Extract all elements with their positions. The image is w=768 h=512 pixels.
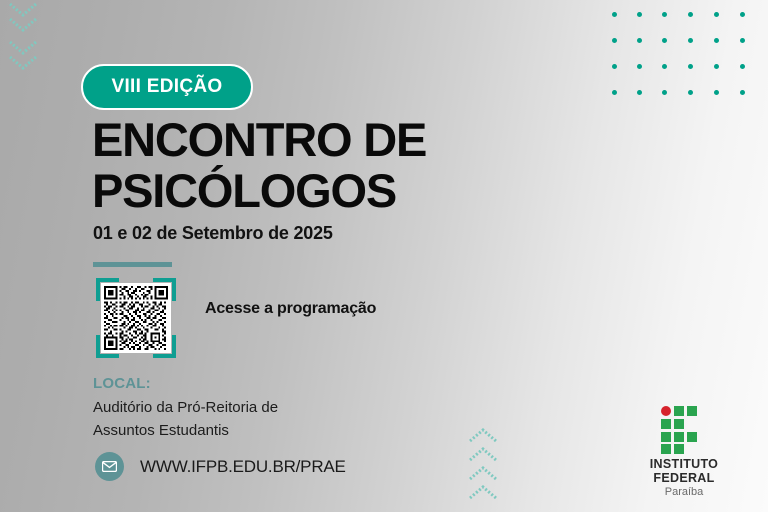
dot [714, 90, 719, 95]
dot [612, 12, 617, 17]
website-url[interactable]: WWW.IFPB.EDU.BR/PRAE [140, 457, 346, 477]
location-line-2: Assuntos Estudantis [93, 422, 229, 439]
qr-bracket-top-right-icon [153, 278, 176, 301]
chevron-down-icon [8, 55, 38, 71]
ifpb-logo-mark-icon [661, 406, 707, 454]
chevron-up-icon [468, 428, 498, 444]
event-poster: VIII EDIÇÃO ENCONTRO DE PSICÓLOGOS 01 e … [0, 0, 768, 512]
chevron-up-icon [468, 447, 498, 463]
dot-grid-decoration [612, 12, 754, 98]
dot [714, 12, 719, 17]
location-label: LOCAL: [93, 375, 151, 392]
website-row[interactable]: WWW.IFPB.EDU.BR/PRAE [95, 452, 346, 481]
dot [637, 12, 642, 17]
location-line-1: Auditório da Pró-Reitoria de [93, 399, 278, 416]
chevron-down-icon [8, 17, 38, 33]
qr-bracket-top-left-icon [96, 278, 119, 301]
logo-square [674, 419, 684, 429]
dot [637, 90, 642, 95]
chevron-down-icon [8, 2, 38, 18]
dot [740, 90, 745, 95]
dot [740, 64, 745, 69]
chevron-down-icon [8, 40, 38, 56]
ifpb-name-line-1: INSTITUTO [640, 458, 728, 472]
qr-code-block[interactable] [96, 278, 176, 358]
chevron-up-icon [468, 466, 498, 482]
dot [740, 12, 745, 17]
dot [612, 64, 617, 69]
logo-square [687, 406, 697, 416]
logo-square [661, 432, 671, 442]
dot [740, 38, 745, 43]
dot [662, 12, 667, 17]
title-line-1: ENCONTRO DE [92, 114, 612, 165]
dot [637, 64, 642, 69]
dot [662, 38, 667, 43]
event-date: 01 e 02 de Setembro de 2025 [93, 223, 333, 244]
dot [688, 64, 693, 69]
chevron-up-icon [468, 485, 498, 501]
ifpb-logo: INSTITUTO FEDERAL Paraíba [640, 406, 728, 499]
logo-square [661, 419, 671, 429]
dot [662, 64, 667, 69]
envelope-icon [95, 452, 124, 481]
dot [688, 38, 693, 43]
ifpb-subtitle: Paraíba [640, 486, 728, 499]
dot [612, 90, 617, 95]
logo-square [674, 444, 684, 454]
logo-square [674, 406, 684, 416]
logo-square [687, 432, 697, 442]
qr-bracket-bottom-left-icon [96, 335, 119, 358]
ifpb-name-line-2: FEDERAL [640, 472, 728, 486]
dot [714, 38, 719, 43]
logo-square [661, 444, 671, 454]
divider [93, 262, 172, 267]
dot [637, 38, 642, 43]
edition-badge: VIII EDIÇÃO [81, 64, 253, 110]
page-title: ENCONTRO DE PSICÓLOGOS [92, 114, 612, 216]
title-line-2: PSICÓLOGOS [92, 165, 612, 216]
dot [612, 38, 617, 43]
dot [662, 90, 667, 95]
dot [688, 12, 693, 17]
qr-bracket-bottom-right-icon [153, 335, 176, 358]
logo-square [674, 432, 684, 442]
dot [714, 64, 719, 69]
qr-caption: Acesse a programação [205, 300, 376, 318]
dot [688, 90, 693, 95]
logo-dot-red [661, 406, 671, 416]
